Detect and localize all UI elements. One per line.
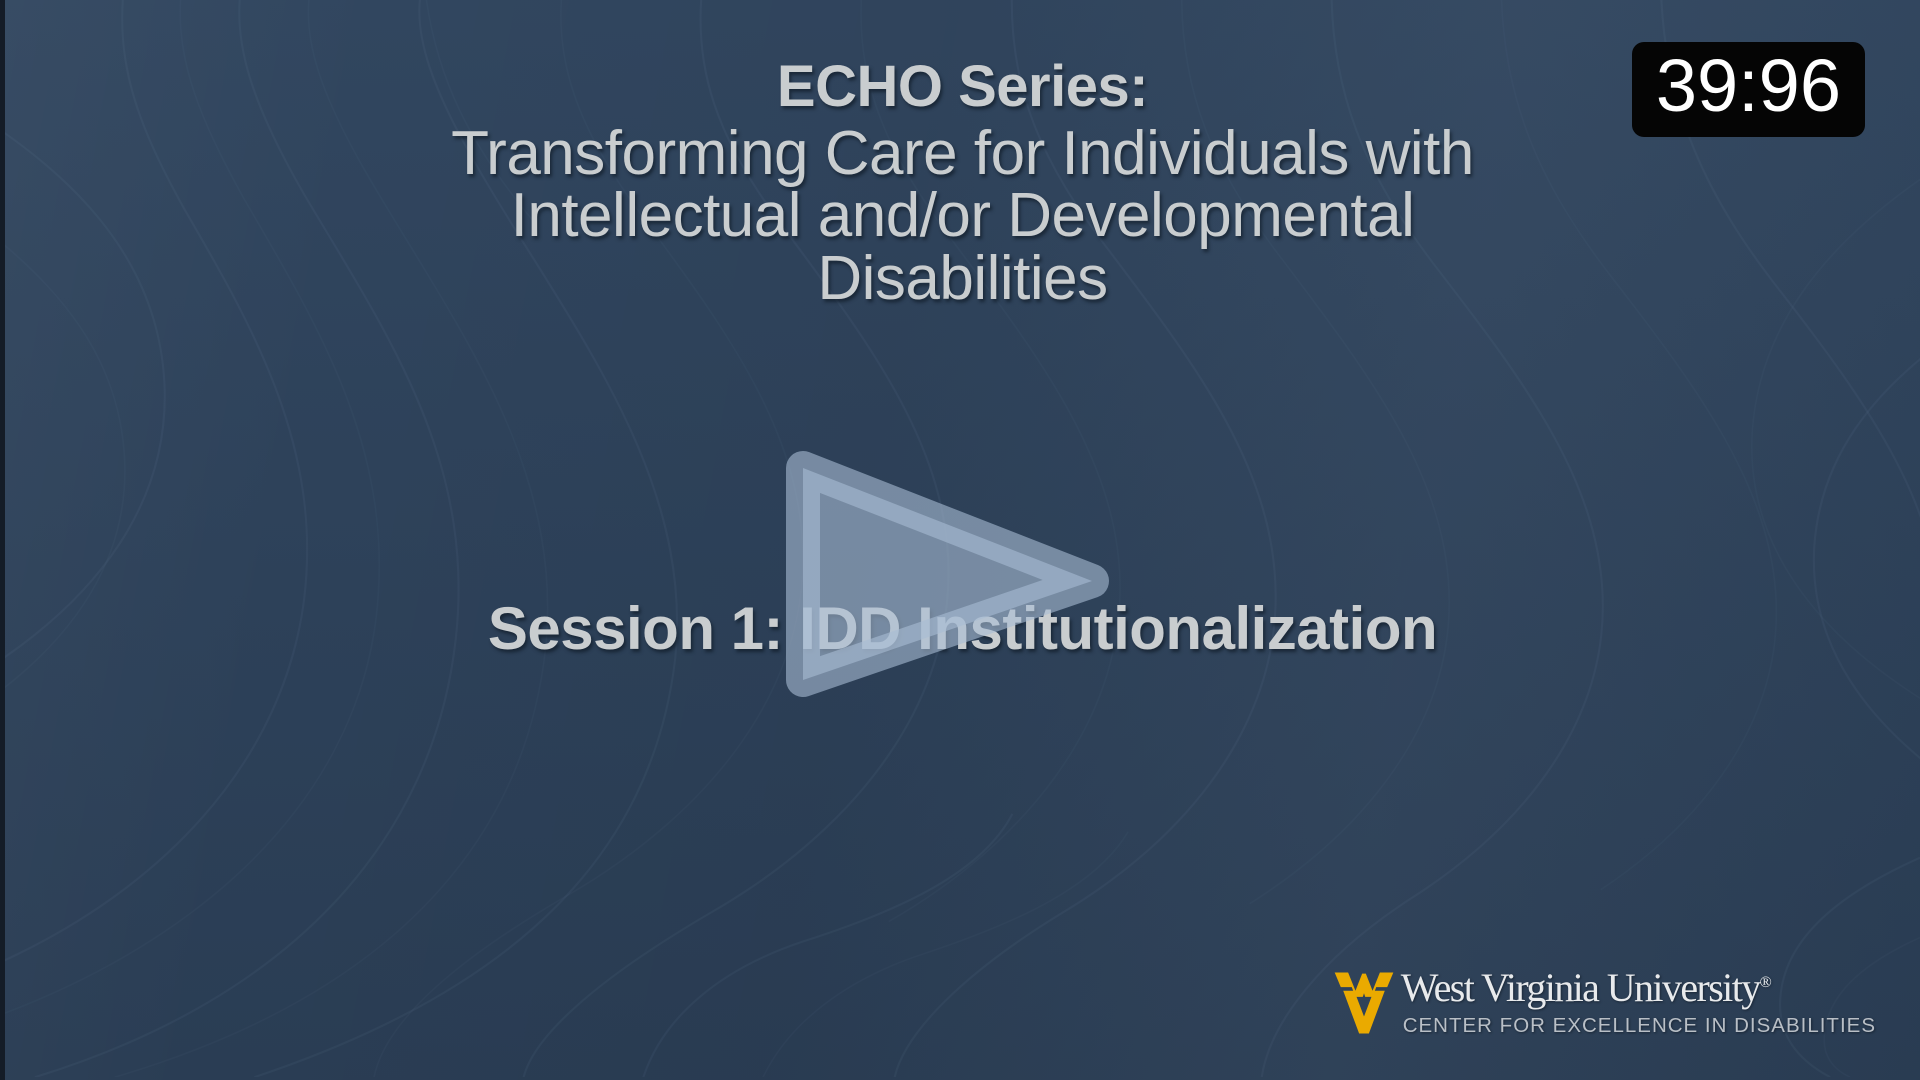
slide-title-line-2: Transforming Care for Individuals with xyxy=(5,123,1920,186)
registered-trademark-icon: ® xyxy=(1760,974,1772,991)
play-button[interactable] xyxy=(775,438,1120,710)
slide-title-line-3: Intellectual and/or Developmental xyxy=(5,185,1920,248)
wvu-ced-logo: West Virginia University® CENTER FOR EXC… xyxy=(1333,968,1876,1037)
play-triangle-icon xyxy=(775,438,1120,710)
wvu-university-text: West Virginia University® xyxy=(1401,968,1772,1008)
timer-display: 39:96 xyxy=(1632,42,1865,137)
wvu-university-label: West Virginia University xyxy=(1401,965,1760,1010)
slide-title-line-4: Disabilities xyxy=(5,248,1920,311)
wvu-wordmark: West Virginia University® CENTER FOR EXC… xyxy=(1401,968,1876,1037)
wvu-center-text: CENTER FOR EXCELLENCE IN DISABILITIES xyxy=(1403,1016,1876,1037)
video-player[interactable]: ECHO Series: Transforming Care for Indiv… xyxy=(0,0,1920,1080)
flying-wv-icon xyxy=(1333,970,1395,1036)
